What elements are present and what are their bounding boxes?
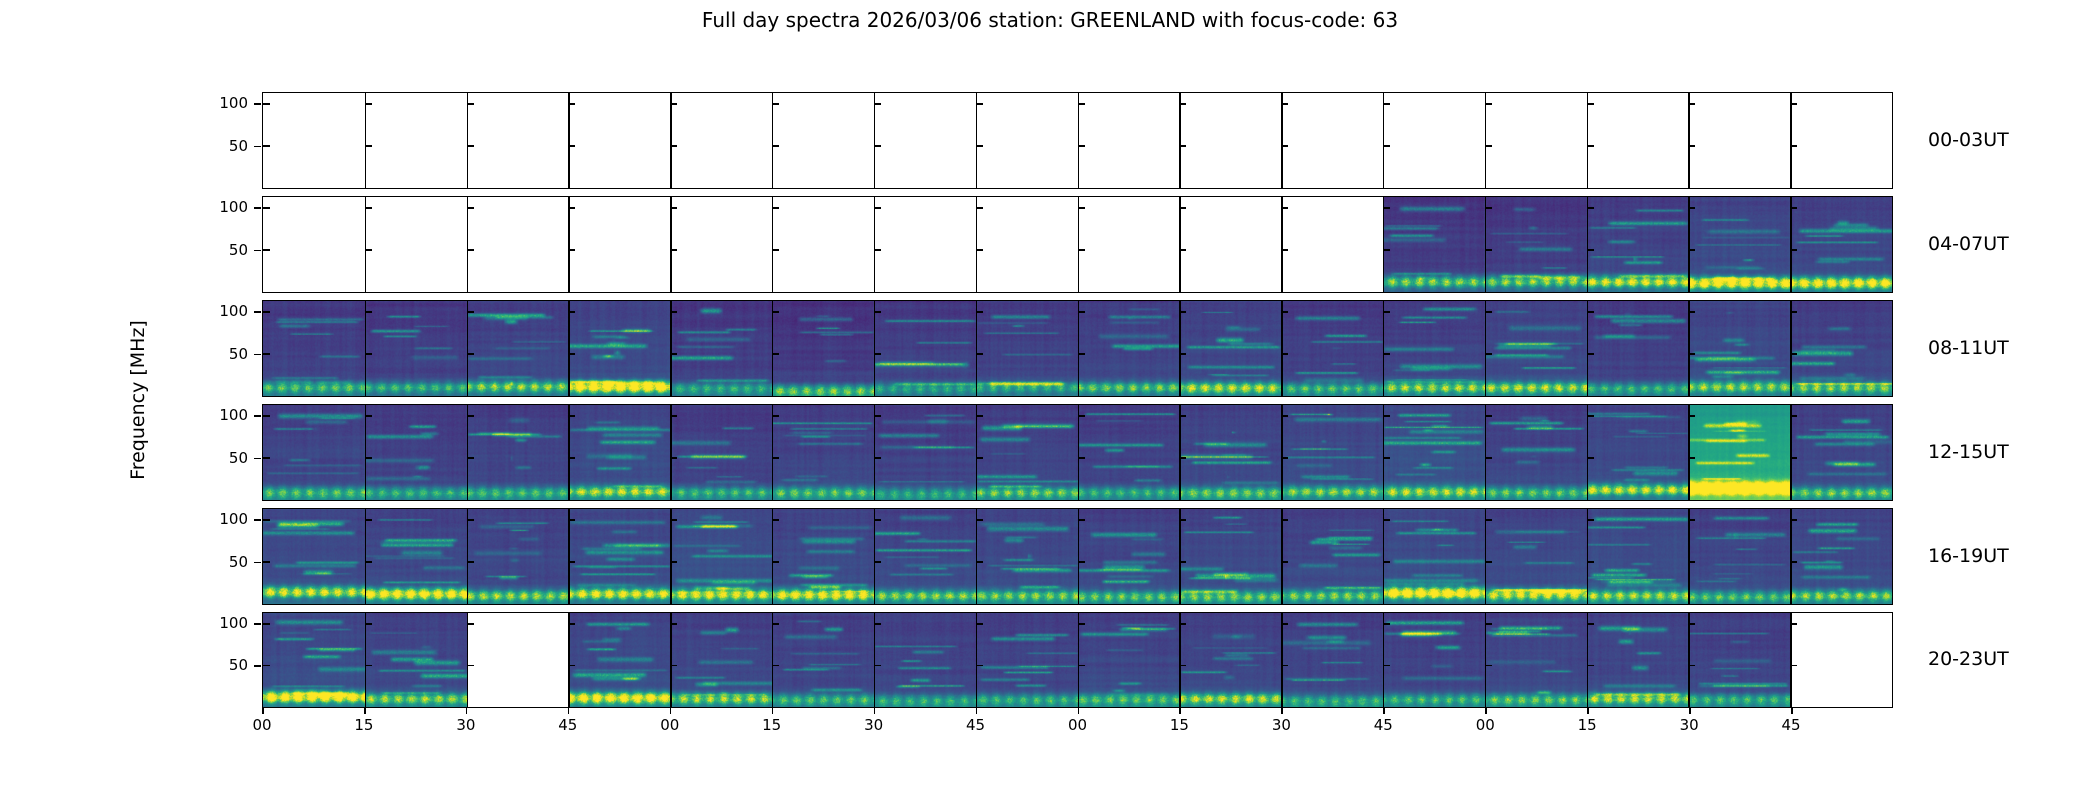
y-tick-mark-outer <box>254 562 261 564</box>
y-tick-mark <box>772 561 779 563</box>
spectrogram-panel[interactable] <box>1179 197 1281 292</box>
y-tick-mark <box>1383 457 1390 459</box>
y-tick-mark <box>1587 415 1594 417</box>
spectrogram-image <box>1383 509 1485 604</box>
spectrogram-image <box>772 405 874 500</box>
spectrogram-panel[interactable] <box>976 613 1078 707</box>
spectrogram-image <box>1790 197 1892 292</box>
y-tick-mark <box>874 623 881 625</box>
spectrogram-panel[interactable] <box>263 405 365 500</box>
x-tick-mark <box>1791 708 1793 714</box>
y-tick-mark <box>1179 145 1186 147</box>
spectrogram-panel[interactable] <box>1587 509 1689 604</box>
spectrogram-panel[interactable] <box>568 613 670 707</box>
row-label-08-11ut: 08-11UT <box>1928 337 2009 359</box>
y-tick-mark <box>772 353 779 355</box>
spectrogram-panel[interactable] <box>1485 197 1587 292</box>
spectrogram-row <box>262 196 1893 293</box>
y-tick-mark <box>1485 145 1492 147</box>
row-label-20-23ut: 20-23UT <box>1928 648 2009 670</box>
x-tick-label: 00 <box>660 716 679 734</box>
y-tick-mark <box>1688 249 1695 251</box>
spectrogram-panel[interactable] <box>1587 613 1689 707</box>
row-label-00-03ut: 00-03UT <box>1928 129 2009 151</box>
spectrogram-panel[interactable] <box>1179 613 1281 707</box>
y-tick-mark <box>1078 103 1085 105</box>
x-tick-label: 45 <box>1782 716 1801 734</box>
spectrogram-panel[interactable] <box>670 301 772 396</box>
spectrogram-panel[interactable] <box>1281 613 1383 707</box>
spectrogram-panel[interactable] <box>1078 613 1180 707</box>
y-tick-mark <box>1078 623 1085 625</box>
spectrogram-panel[interactable] <box>772 197 874 292</box>
y-tick-mark <box>670 145 677 147</box>
spectrogram-panel[interactable] <box>1587 93 1689 188</box>
spectrogram-image <box>1179 509 1281 604</box>
spectrogram-image <box>365 509 467 604</box>
spectrogram-panel[interactable] <box>1790 301 1892 396</box>
y-tick-mark <box>1688 311 1695 313</box>
spectrogram-panel[interactable] <box>263 93 365 188</box>
x-tick-mark <box>670 708 672 714</box>
row-label-12-15ut: 12-15UT <box>1928 441 2009 463</box>
y-tick-label: 100 <box>204 614 248 632</box>
y-tick-mark <box>467 519 474 521</box>
spectrogram-panel[interactable] <box>976 405 1078 500</box>
y-tick-mark <box>1281 623 1288 625</box>
y-tick-mark <box>263 311 270 313</box>
y-tick-mark <box>874 249 881 251</box>
x-tick-label: 15 <box>1578 716 1597 734</box>
y-tick-mark-outer <box>254 665 261 667</box>
y-tick-mark <box>1790 103 1797 105</box>
spectrogram-panel[interactable] <box>670 613 772 707</box>
spectrogram-panel[interactable] <box>1587 301 1689 396</box>
y-tick-mark-outer <box>254 207 261 209</box>
spectrogram-panel[interactable] <box>1179 405 1281 500</box>
spectrogram-panel[interactable] <box>670 405 772 500</box>
spectrogram-panel[interactable] <box>874 405 976 500</box>
y-tick-mark-outer <box>254 458 261 460</box>
spectrogram-panel[interactable] <box>467 197 569 292</box>
y-tick-mark <box>874 665 881 667</box>
x-tick-label: 15 <box>1170 716 1189 734</box>
spectrogram-image <box>1485 197 1587 292</box>
spectrogram-panel[interactable] <box>1281 197 1383 292</box>
y-tick-mark <box>467 623 474 625</box>
y-tick-mark <box>1383 103 1390 105</box>
spectrogram-panel[interactable] <box>568 509 670 604</box>
y-tick-mark <box>568 103 575 105</box>
y-tick-mark <box>1790 457 1797 459</box>
y-tick-mark <box>670 249 677 251</box>
spectrogram-panel[interactable] <box>1790 197 1892 292</box>
spectrogram-panel[interactable] <box>1078 509 1180 604</box>
spectrogram-image <box>976 509 1078 604</box>
spectrogram-panel[interactable] <box>365 93 467 188</box>
spectrogram-image <box>772 509 874 604</box>
x-tick-mark <box>874 708 876 714</box>
y-tick-mark <box>1281 207 1288 209</box>
spectrogram-panel[interactable] <box>1078 197 1180 292</box>
y-tick-mark <box>1587 561 1594 563</box>
y-tick-mark <box>1179 415 1186 417</box>
y-tick-mark <box>1179 103 1186 105</box>
x-tick-mark <box>1281 708 1283 714</box>
y-tick-mark <box>1179 665 1186 667</box>
y-tick-mark <box>1078 519 1085 521</box>
spectrogram-panel[interactable] <box>1383 613 1485 707</box>
spectrogram-panel[interactable] <box>1790 405 1892 500</box>
y-tick-mark <box>1688 561 1695 563</box>
y-tick-mark <box>568 145 575 147</box>
y-tick-mark <box>1688 103 1695 105</box>
y-tick-mark <box>1688 207 1695 209</box>
y-tick-mark <box>1790 623 1797 625</box>
y-tick-mark-outer <box>254 415 261 417</box>
x-tick-mark <box>1587 708 1589 714</box>
spectrogram-image <box>1078 509 1180 604</box>
y-tick-mark <box>1485 311 1492 313</box>
spectrogram-panel[interactable] <box>1485 405 1587 500</box>
spectrogram-image <box>1281 509 1383 604</box>
y-tick-mark <box>772 145 779 147</box>
spectrogram-image <box>365 405 467 500</box>
spectrogram-image <box>874 613 976 707</box>
y-tick-mark <box>772 415 779 417</box>
y-tick-mark <box>1281 353 1288 355</box>
y-tick-mark <box>263 415 270 417</box>
y-tick-mark-outer <box>254 103 261 105</box>
x-tick-mark <box>1485 708 1487 714</box>
y-tick-mark <box>568 457 575 459</box>
spectrogram-panel[interactable] <box>1688 613 1790 707</box>
spectrogram-panel[interactable] <box>1688 301 1790 396</box>
y-tick-mark <box>976 207 983 209</box>
spectrogram-image <box>263 613 365 707</box>
spectrogram-image <box>1587 613 1689 707</box>
y-tick-mark <box>1281 415 1288 417</box>
y-tick-mark <box>365 103 372 105</box>
x-tick-label: 45 <box>966 716 985 734</box>
y-tick-mark <box>1179 249 1186 251</box>
spectrogram-panel[interactable] <box>772 93 874 188</box>
spectrogram-panel[interactable] <box>1688 93 1790 188</box>
spectrogram-panel[interactable] <box>1485 301 1587 396</box>
x-tick-mark <box>976 708 978 714</box>
spectrogram-row <box>262 92 1893 189</box>
spectrogram-panel[interactable] <box>1383 197 1485 292</box>
y-tick-mark <box>1078 415 1085 417</box>
y-tick-mark <box>976 103 983 105</box>
spectrogram-panel[interactable] <box>1078 301 1180 396</box>
spectrogram-panel[interactable] <box>1688 509 1790 604</box>
y-tick-mark <box>365 145 372 147</box>
spectrogram-panel[interactable] <box>1790 613 1892 707</box>
y-tick-mark <box>1383 311 1390 313</box>
y-tick-mark <box>1383 665 1390 667</box>
spectrogram-panel[interactable] <box>1281 509 1383 604</box>
y-tick-mark <box>1078 561 1085 563</box>
y-tick-label: 50 <box>204 137 248 155</box>
spectrogram-panel[interactable] <box>568 405 670 500</box>
y-tick-mark <box>263 623 270 625</box>
y-tick-mark <box>1790 207 1797 209</box>
spectrogram-panel[interactable] <box>1281 301 1383 396</box>
spectrogram-panel[interactable] <box>263 509 365 604</box>
spectrogram-panel[interactable] <box>1485 93 1587 188</box>
y-axis-label: Frequency [MHz] <box>127 200 149 600</box>
spectrogram-panel[interactable] <box>1485 509 1587 604</box>
y-tick-mark <box>1688 457 1695 459</box>
y-tick-label: 100 <box>204 302 248 320</box>
spectrogram-panel[interactable] <box>467 301 569 396</box>
y-tick-mark <box>1587 623 1594 625</box>
y-tick-mark <box>976 311 983 313</box>
spectrogram-panel[interactable] <box>976 93 1078 188</box>
spectrogram-panel[interactable] <box>874 93 976 188</box>
y-tick-mark <box>365 623 372 625</box>
spectrogram-panel[interactable] <box>772 509 874 604</box>
y-tick-mark <box>1587 353 1594 355</box>
spectrogram-panel[interactable] <box>1383 509 1485 604</box>
spectrogram-panel[interactable] <box>1383 93 1485 188</box>
spectrogram-panel[interactable] <box>1179 509 1281 604</box>
y-tick-mark <box>976 519 983 521</box>
x-tick-label: 45 <box>1374 716 1393 734</box>
x-tick-label: 30 <box>1272 716 1291 734</box>
spectrogram-panel[interactable] <box>874 197 976 292</box>
spectrogram-panel[interactable] <box>263 197 365 292</box>
spectrogram-panel[interactable] <box>976 509 1078 604</box>
y-tick-mark <box>263 561 270 563</box>
y-tick-mark <box>1281 103 1288 105</box>
spectrogram-panel[interactable] <box>976 197 1078 292</box>
spectrogram-image <box>1688 301 1790 396</box>
spectrogram-panel[interactable] <box>874 301 976 396</box>
spectrogram-panel[interactable] <box>467 405 569 500</box>
spectrogram-panel[interactable] <box>670 93 772 188</box>
x-tick-mark <box>262 708 264 714</box>
y-tick-mark <box>365 207 372 209</box>
x-tick-mark <box>772 708 774 714</box>
y-tick-mark <box>365 415 372 417</box>
spectrogram-panel[interactable] <box>670 509 772 604</box>
spectrogram-panel[interactable] <box>772 613 874 707</box>
y-tick-mark <box>1078 665 1085 667</box>
spectrogram-image <box>1383 613 1485 707</box>
y-tick-mark <box>365 311 372 313</box>
y-tick-mark <box>1485 353 1492 355</box>
spectrogram-image <box>1688 613 1790 707</box>
spectrogram-image <box>1078 301 1180 396</box>
spectrogram-image <box>1790 301 1892 396</box>
x-tick-label: 30 <box>1680 716 1699 734</box>
y-tick-mark <box>467 249 474 251</box>
spectrogram-panel[interactable] <box>772 301 874 396</box>
spectrogram-panel[interactable] <box>1485 613 1587 707</box>
y-tick-mark <box>1485 103 1492 105</box>
y-tick-mark <box>1485 415 1492 417</box>
y-tick-mark <box>874 561 881 563</box>
x-tick-label: 00 <box>1068 716 1087 734</box>
spectrogram-panel[interactable] <box>1383 405 1485 500</box>
y-tick-mark <box>1281 311 1288 313</box>
spectrogram-image <box>1485 405 1587 500</box>
spectrogram-panel[interactable] <box>365 405 467 500</box>
spectrogram-panel[interactable] <box>874 613 976 707</box>
spectrogram-panel[interactable] <box>365 509 467 604</box>
y-tick-mark <box>1179 457 1186 459</box>
spectrogram-image <box>263 405 365 500</box>
spectrogram-image <box>1281 301 1383 396</box>
x-tick-label: 45 <box>558 716 577 734</box>
y-tick-mark <box>1587 145 1594 147</box>
spectrogram-panel[interactable] <box>365 197 467 292</box>
spectrogram-image <box>874 405 976 500</box>
spectrogram-panel[interactable] <box>263 613 365 707</box>
y-tick-mark <box>670 623 677 625</box>
spectrogram-panel[interactable] <box>263 301 365 396</box>
y-tick-mark <box>976 457 983 459</box>
y-tick-mark <box>1688 623 1695 625</box>
y-tick-mark <box>670 103 677 105</box>
y-tick-mark <box>874 519 881 521</box>
x-tick-label: 15 <box>762 716 781 734</box>
y-tick-mark <box>1281 249 1288 251</box>
spectrogram-panel[interactable] <box>1281 93 1383 188</box>
y-tick-mark <box>1383 249 1390 251</box>
y-tick-mark <box>1281 519 1288 521</box>
spectrogram-panel[interactable] <box>976 301 1078 396</box>
y-tick-mark <box>365 561 372 563</box>
spectrogram-image <box>1688 509 1790 604</box>
y-tick-label: 50 <box>204 241 248 259</box>
spectrogram-panel[interactable] <box>1078 405 1180 500</box>
spectrogram-image <box>772 301 874 396</box>
y-tick-mark-outer <box>254 250 261 252</box>
spectrogram-panel[interactable] <box>467 613 569 707</box>
y-tick-mark <box>1078 145 1085 147</box>
spectrogram-image <box>1281 405 1383 500</box>
spectrogram-image <box>1485 301 1587 396</box>
spectrogram-image <box>1688 197 1790 292</box>
y-tick-mark <box>263 665 270 667</box>
spectrogram-image <box>1485 509 1587 604</box>
y-tick-mark <box>467 145 474 147</box>
y-tick-mark <box>365 353 372 355</box>
y-tick-mark-outer <box>254 623 261 625</box>
y-tick-mark <box>1485 457 1492 459</box>
y-tick-mark <box>263 207 270 209</box>
y-tick-mark <box>1688 519 1695 521</box>
spectrogram-image <box>874 301 976 396</box>
y-tick-mark <box>1383 353 1390 355</box>
y-tick-mark <box>772 207 779 209</box>
spectrogram-image <box>670 301 772 396</box>
spectrogram-panel[interactable] <box>1078 93 1180 188</box>
spectrogram-panel[interactable] <box>1281 405 1383 500</box>
x-tick-mark <box>1689 708 1691 714</box>
spectrogram-row <box>262 508 1893 605</box>
spectrogram-image <box>1587 301 1689 396</box>
spectrogram-panel[interactable] <box>1688 405 1790 500</box>
y-tick-mark <box>1078 207 1085 209</box>
y-tick-mark <box>1078 353 1085 355</box>
spectrogram-panel[interactable] <box>568 93 670 188</box>
y-tick-mark <box>1383 623 1390 625</box>
spectrogram-image <box>1383 405 1485 500</box>
spectrogram-panel[interactable] <box>467 93 569 188</box>
spectrogram-panel[interactable] <box>365 613 467 707</box>
spectrogram-image <box>1078 405 1180 500</box>
y-tick-mark <box>1790 353 1797 355</box>
y-tick-mark <box>365 665 372 667</box>
y-tick-mark <box>1688 665 1695 667</box>
spectrogram-image <box>670 613 772 707</box>
spectrogram-panel[interactable] <box>467 509 569 604</box>
spectrogram-panel[interactable] <box>365 301 467 396</box>
spectrogram-image <box>467 509 569 604</box>
y-tick-mark <box>568 311 575 313</box>
y-tick-mark <box>976 415 983 417</box>
spectrogram-row <box>262 612 1893 708</box>
y-tick-label: 100 <box>204 198 248 216</box>
spectrogram-image <box>1179 405 1281 500</box>
x-tick-label: 30 <box>456 716 475 734</box>
spectrogram-image <box>568 405 670 500</box>
y-tick-mark-outer <box>254 146 261 148</box>
spectrogram-panel[interactable] <box>1179 301 1281 396</box>
y-tick-mark <box>1281 457 1288 459</box>
spectrogram-panel[interactable] <box>1790 509 1892 604</box>
y-tick-mark <box>1485 207 1492 209</box>
y-tick-mark <box>1383 145 1390 147</box>
spectrogram-panel[interactable] <box>874 509 976 604</box>
y-tick-mark <box>976 561 983 563</box>
y-tick-label: 50 <box>204 656 248 674</box>
y-tick-mark <box>1587 311 1594 313</box>
spectrogram-image <box>1383 301 1485 396</box>
spectrogram-panel[interactable] <box>1790 93 1892 188</box>
y-tick-label: 50 <box>204 553 248 571</box>
y-tick-mark <box>1383 561 1390 563</box>
y-tick-mark <box>568 415 575 417</box>
y-tick-mark <box>976 249 983 251</box>
y-tick-mark <box>365 249 372 251</box>
spectrogram-panel[interactable] <box>670 197 772 292</box>
spectrogram-panel[interactable] <box>772 405 874 500</box>
y-tick-mark <box>772 311 779 313</box>
y-tick-mark <box>1587 519 1594 521</box>
spectrogram-panel[interactable] <box>1383 301 1485 396</box>
spectrogram-image <box>1587 197 1689 292</box>
spectrogram-panel[interactable] <box>568 301 670 396</box>
y-tick-mark <box>365 519 372 521</box>
y-tick-label: 100 <box>204 406 248 424</box>
spectrogram-panel[interactable] <box>1587 197 1689 292</box>
spectrogram-image <box>1078 613 1180 707</box>
x-tick-label: 15 <box>354 716 373 734</box>
y-tick-mark <box>263 249 270 251</box>
spectrogram-panel[interactable] <box>1179 93 1281 188</box>
spectrogram-panel[interactable] <box>1587 405 1689 500</box>
y-tick-mark <box>874 103 881 105</box>
spectrogram-panel[interactable] <box>568 197 670 292</box>
y-tick-mark <box>1587 665 1594 667</box>
spectrogram-panel[interactable] <box>1688 197 1790 292</box>
y-tick-mark <box>670 353 677 355</box>
